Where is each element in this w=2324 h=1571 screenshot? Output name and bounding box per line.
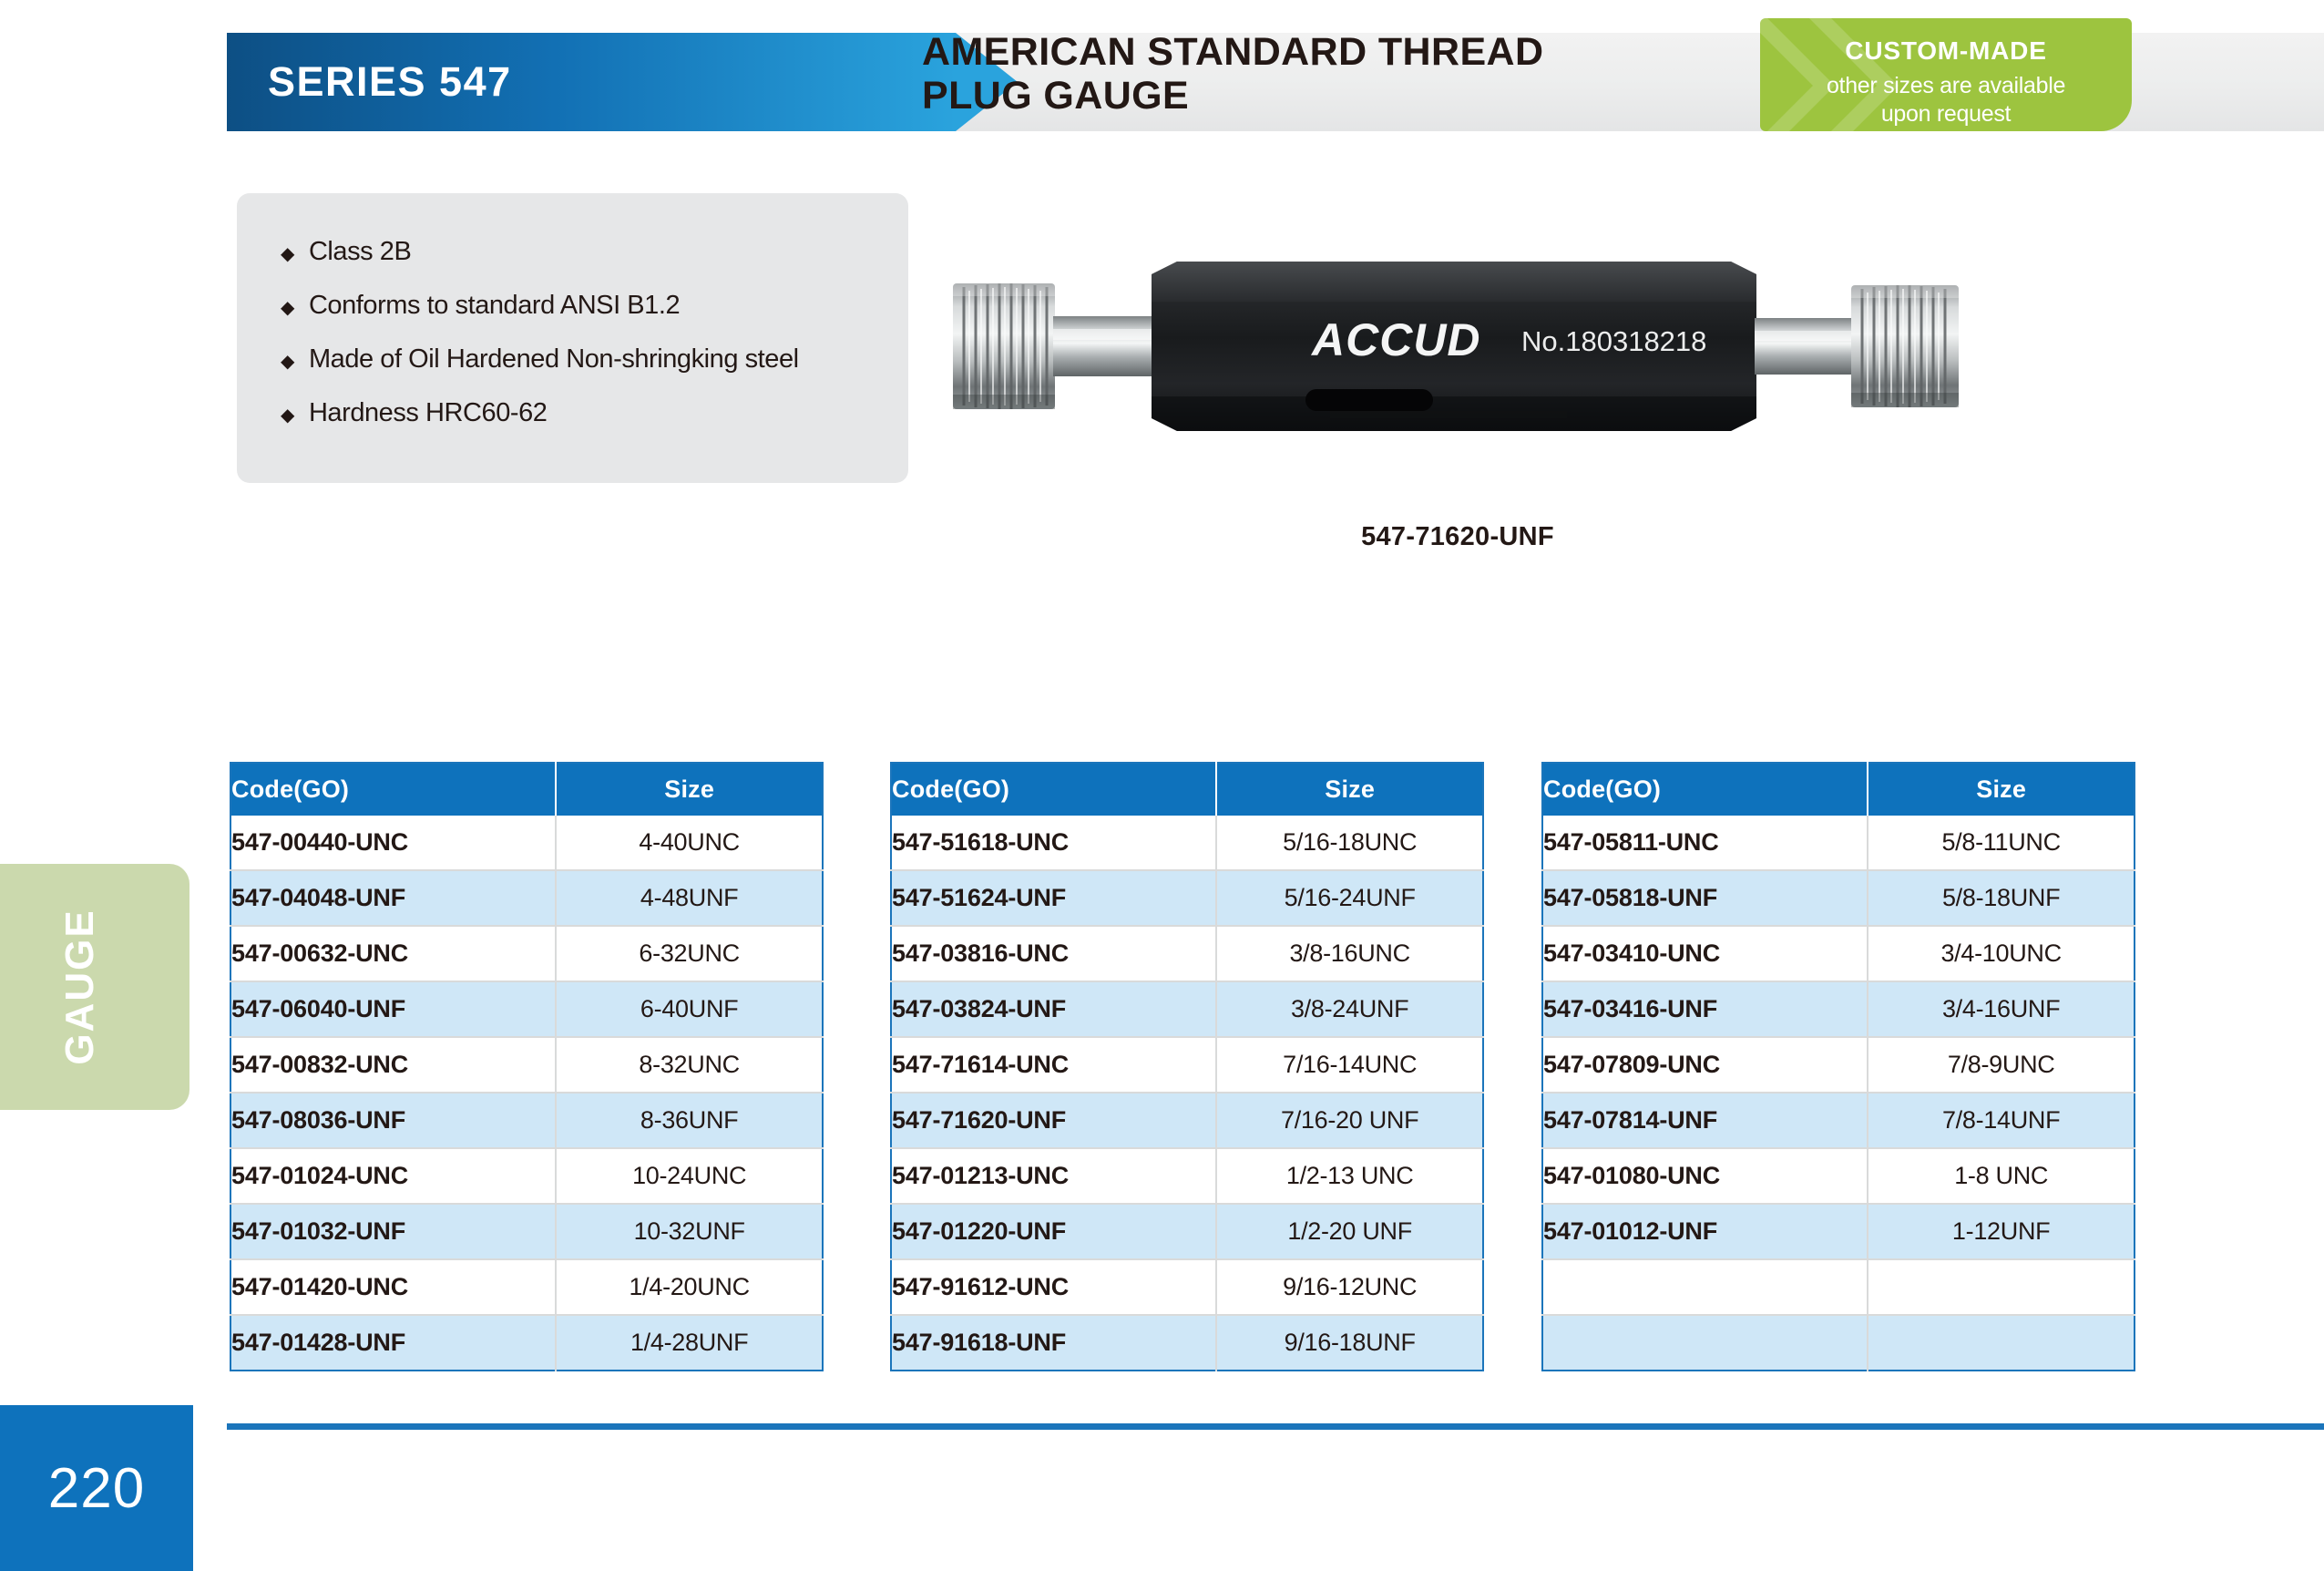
- table-row: 547-00440-UNC4-40UNC: [230, 816, 823, 870]
- cell-size: 8-32UNC: [556, 1037, 823, 1093]
- column-header-code: Code(GO): [1542, 763, 1868, 816]
- cell-size: 5/16-24UNF: [1216, 870, 1483, 926]
- cell-size: 8-36UNF: [556, 1093, 823, 1148]
- diamond-bullet-icon: ◆: [281, 353, 294, 371]
- table-row: 547-03816-UNC3/8-16UNC: [891, 926, 1483, 981]
- spec-table: Code(GO) Size 547-00440-UNC4-40UNC547-04…: [230, 762, 824, 1371]
- cell-size: 9/16-18UNF: [1216, 1315, 1483, 1371]
- features-panel: ◆ Class 2B ◆ Conforms to standard ANSI B…: [237, 193, 908, 483]
- table-header-row: Code(GO) Size: [891, 763, 1483, 816]
- table-row: 547-91612-UNC9/16-12UNC: [891, 1259, 1483, 1315]
- cell-size: 3/4-16UNF: [1868, 981, 2135, 1037]
- footer-divider: [227, 1423, 2324, 1430]
- cell-code: 547-00440-UNC: [230, 816, 556, 870]
- cell-code: 547-05811-UNC: [1542, 816, 1868, 870]
- page-title-line-1: AMERICAN STANDARD THREAD: [922, 30, 1797, 74]
- feature-text: Made of Oil Hardened Non-shringking stee…: [309, 344, 799, 375]
- custom-made-subtitle: other sizes are available upon request: [1760, 72, 2132, 129]
- table-row: 547-04048-UNF4-48UNF: [230, 870, 823, 926]
- column-header-size: Size: [556, 763, 823, 816]
- table-row: 547-03824-UNF3/8-24UNF: [891, 981, 1483, 1037]
- feature-text: Class 2B: [309, 237, 411, 267]
- cell-code: 547-51618-UNC: [891, 816, 1216, 870]
- table-row: 547-00632-UNC6-32UNC: [230, 926, 823, 981]
- custom-made-line-1: other sizes are available: [1760, 72, 2132, 100]
- cell-code: 547-01213-UNC: [891, 1148, 1216, 1204]
- cell-code: 547-07809-UNC: [1542, 1037, 1868, 1093]
- cell-size: 3/8-24UNF: [1216, 981, 1483, 1037]
- table-row: 547-01080-UNC1-8 UNC: [1542, 1148, 2135, 1204]
- table-row: 547-03410-UNC3/4-10UNC: [1542, 926, 2135, 981]
- table-body: 547-51618-UNC5/16-18UNC547-51624-UNF5/16…: [891, 816, 1483, 1371]
- sidebar-tab-gauge[interactable]: GAUGE: [0, 864, 189, 1110]
- feature-text: Hardness HRC60-62: [309, 398, 548, 428]
- table-row: 547-05811-UNC5/8-11UNC: [1542, 816, 2135, 870]
- cell-size: 10-32UNF: [556, 1204, 823, 1259]
- cell-code: 547-04048-UNF: [230, 870, 556, 926]
- table-row: 547-05818-UNF5/8-18UNF: [1542, 870, 2135, 926]
- table-row: 547-01428-UNF1/4-28UNF: [230, 1315, 823, 1371]
- cell-code: 547-91618-UNF: [891, 1315, 1216, 1371]
- table-body: 547-00440-UNC4-40UNC547-04048-UNF4-48UNF…: [230, 816, 823, 1371]
- cell-size: 3/4-10UNC: [1868, 926, 2135, 981]
- cell-code: 547-51624-UNF: [891, 870, 1216, 926]
- cell-size: 6-32UNC: [556, 926, 823, 981]
- cell-size: 4-40UNC: [556, 816, 823, 870]
- table-row: [1542, 1259, 2135, 1315]
- cell-size: 7/16-14UNC: [1216, 1037, 1483, 1093]
- feature-item: ◆ Conforms to standard ANSI B1.2: [281, 291, 908, 321]
- cell-size: 1/2-20 UNF: [1216, 1204, 1483, 1259]
- table-header-row: Code(GO) Size: [230, 763, 823, 816]
- feature-item: ◆ Made of Oil Hardened Non-shringking st…: [281, 344, 908, 375]
- column-header-code: Code(GO): [230, 763, 556, 816]
- table-row: 547-01420-UNC1/4-20UNC: [230, 1259, 823, 1315]
- cell-size: 7/8-9UNC: [1868, 1037, 2135, 1093]
- svg-text:ACCUD: ACCUD: [1310, 314, 1481, 365]
- table-row: 547-71614-UNC7/16-14UNC: [891, 1037, 1483, 1093]
- cell-size: 1-12UNF: [1868, 1204, 2135, 1259]
- custom-made-line-2: upon request: [1760, 100, 2132, 128]
- custom-made-title: CUSTOM-MADE: [1760, 36, 2132, 66]
- cell-code: 547-05818-UNF: [1542, 870, 1868, 926]
- cell-size: 1/4-28UNF: [556, 1315, 823, 1371]
- cell-code: 547-06040-UNF: [230, 981, 556, 1037]
- spec-table: Code(GO) Size 547-05811-UNC5/8-11UNC547-…: [1541, 762, 2135, 1371]
- table-row: 547-51618-UNC5/16-18UNC: [891, 816, 1483, 870]
- table-body: 547-05811-UNC5/8-11UNC547-05818-UNF5/8-1…: [1542, 816, 2135, 1371]
- custom-made-badge: CUSTOM-MADE other sizes are available up…: [1760, 18, 2132, 131]
- cell-code: 547-03410-UNC: [1542, 926, 1868, 981]
- cell-size: 7/8-14UNF: [1868, 1093, 2135, 1148]
- table-row: 547-71620-UNF7/16-20 UNF: [891, 1093, 1483, 1148]
- column-header-code: Code(GO): [891, 763, 1216, 816]
- cell-code: 547-01032-UNF: [230, 1204, 556, 1259]
- table-row: 547-01012-UNF1-12UNF: [1542, 1204, 2135, 1259]
- page-title-line-2: PLUG GAUGE: [922, 74, 1797, 118]
- cell-code: 547-01012-UNF: [1542, 1204, 1868, 1259]
- product-caption: 547-71620-UNF: [947, 522, 1968, 552]
- cell-code: 547-08036-UNF: [230, 1093, 556, 1148]
- table-row: 547-01220-UNF1/2-20 UNF: [891, 1204, 1483, 1259]
- cell-size: 7/16-20 UNF: [1216, 1093, 1483, 1148]
- cell-code: 547-01080-UNC: [1542, 1148, 1868, 1204]
- diamond-bullet-icon: ◆: [281, 406, 294, 425]
- table-row: [1542, 1315, 2135, 1371]
- page-number-box: 220: [0, 1405, 193, 1571]
- cell-size: 3/8-16UNC: [1216, 926, 1483, 981]
- table-row: 547-03416-UNF3/4-16UNF: [1542, 981, 2135, 1037]
- cell-size: 4-48UNF: [556, 870, 823, 926]
- cell-code: 547-01420-UNC: [230, 1259, 556, 1315]
- table-row: 547-01024-UNC10-24UNC: [230, 1148, 823, 1204]
- cell-code: 547-91612-UNC: [891, 1259, 1216, 1315]
- cell-code: 547-07814-UNF: [1542, 1093, 1868, 1148]
- column-header-size: Size: [1216, 763, 1483, 816]
- table-row: 547-01032-UNF10-32UNF: [230, 1204, 823, 1259]
- spec-table: Code(GO) Size 547-51618-UNC5/16-18UNC547…: [890, 762, 1484, 1371]
- product-image: ACCUD No.180318218: [947, 251, 1968, 442]
- thread-plug-gauge-illustration: ACCUD No.180318218: [947, 251, 1968, 442]
- table-row: 547-07809-UNC7/8-9UNC: [1542, 1037, 2135, 1093]
- cell-size: 5/8-18UNF: [1868, 870, 2135, 926]
- cell-code: 547-00632-UNC: [230, 926, 556, 981]
- cell-code: 547-01024-UNC: [230, 1148, 556, 1204]
- page-number: 220: [48, 1456, 145, 1521]
- features-list: ◆ Class 2B ◆ Conforms to standard ANSI B…: [237, 193, 908, 428]
- cell-code: 547-71614-UNC: [891, 1037, 1216, 1093]
- svg-text:No.180318218: No.180318218: [1521, 325, 1706, 357]
- cell-code: 547-03416-UNF: [1542, 981, 1868, 1037]
- diamond-bullet-icon: ◆: [281, 299, 294, 317]
- table-row: 547-91618-UNF9/16-18UNF: [891, 1315, 1483, 1371]
- cell-size: [1868, 1315, 2135, 1371]
- table-row: 547-01213-UNC1/2-13 UNC: [891, 1148, 1483, 1204]
- cell-size: 1/4-20UNC: [556, 1259, 823, 1315]
- cell-size: [1868, 1259, 2135, 1315]
- feature-text: Conforms to standard ANSI B1.2: [309, 291, 680, 321]
- cell-code: 547-03824-UNF: [891, 981, 1216, 1037]
- series-banner: SERIES 547: [227, 33, 956, 131]
- column-header-size: Size: [1868, 763, 2135, 816]
- table-row: 547-07814-UNF7/8-14UNF: [1542, 1093, 2135, 1148]
- feature-item: ◆ Class 2B: [281, 237, 908, 267]
- cell-size: 1-8 UNC: [1868, 1148, 2135, 1204]
- diamond-bullet-icon: ◆: [281, 245, 294, 263]
- cell-size: 10-24UNC: [556, 1148, 823, 1204]
- cell-size: 1/2-13 UNC: [1216, 1148, 1483, 1204]
- table-header-row: Code(GO) Size: [1542, 763, 2135, 816]
- cell-code: [1542, 1259, 1868, 1315]
- sidebar-tab-label: GAUGE: [57, 909, 103, 1064]
- cell-code: 547-01220-UNF: [891, 1204, 1216, 1259]
- feature-item: ◆ Hardness HRC60-62: [281, 398, 908, 428]
- table-row: 547-51624-UNF5/16-24UNF: [891, 870, 1483, 926]
- cell-code: [1542, 1315, 1868, 1371]
- cell-size: 5/8-11UNC: [1868, 816, 2135, 870]
- table-row: 547-00832-UNC8-32UNC: [230, 1037, 823, 1093]
- table-row: 547-06040-UNF6-40UNF: [230, 981, 823, 1037]
- cell-code: 547-71620-UNF: [891, 1093, 1216, 1148]
- cell-code: 547-01428-UNF: [230, 1315, 556, 1371]
- cell-size: 6-40UNF: [556, 981, 823, 1037]
- cell-code: 547-00832-UNC: [230, 1037, 556, 1093]
- cell-code: 547-03816-UNC: [891, 926, 1216, 981]
- cell-size: 5/16-18UNC: [1216, 816, 1483, 870]
- cell-size: 9/16-12UNC: [1216, 1259, 1483, 1315]
- page-title: AMERICAN STANDARD THREAD PLUG GAUGE: [922, 30, 1797, 118]
- series-label: SERIES 547: [227, 58, 512, 106]
- table-row: 547-08036-UNF8-36UNF: [230, 1093, 823, 1148]
